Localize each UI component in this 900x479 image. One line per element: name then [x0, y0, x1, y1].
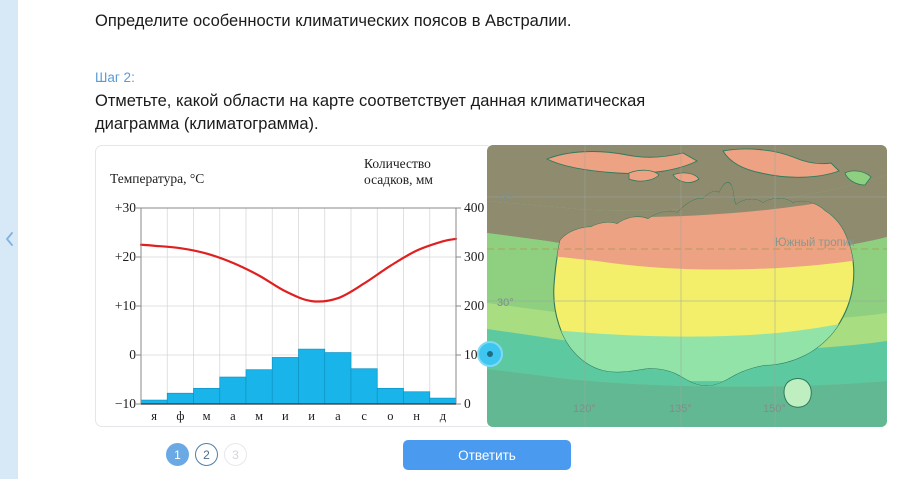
month-label-7: и	[299, 409, 325, 424]
step-dot-3[interactable]: 3	[224, 443, 247, 466]
month-label-4: а	[220, 409, 246, 424]
instruction-text: Отметьте, какой области на карте соответ…	[95, 90, 887, 137]
temp-tick-0: 0	[96, 348, 136, 362]
page-root: Определите особенности климатических поя…	[0, 0, 900, 479]
step-dot-1[interactable]: 1	[166, 443, 189, 466]
temp-tick-20: +20	[96, 250, 136, 264]
month-label-6: и	[272, 409, 298, 424]
instruction-line-1: Отметьте, какой области на карте соответ…	[95, 92, 645, 110]
answer-button[interactable]: Ответить	[403, 440, 571, 470]
month-label-12: д	[430, 409, 456, 424]
chevron-left-icon[interactable]	[2, 228, 16, 250]
month-label-10: о	[377, 409, 403, 424]
climatogram-svg	[96, 146, 494, 428]
temp-tick-30: +30	[96, 201, 136, 215]
month-label-1: я	[141, 409, 167, 424]
instruction-line-2: диаграмма (климатограмма).	[95, 113, 887, 136]
precipitation-bars	[141, 349, 456, 404]
month-label-2: ф	[167, 409, 193, 424]
month-label-11: н	[404, 409, 430, 424]
climatogram-card: Температура, °C Количество осадков, мм +…	[95, 145, 493, 427]
step-indicator: 1 2 3	[166, 443, 247, 466]
australia-climate-map[interactable]: 15° 30° 120° 135° 150° Южный тропик	[487, 145, 887, 427]
plot-area: +30+20+100−10 4003002001000 яфмамииасонд	[96, 146, 494, 428]
step-label: Шаг 2:	[95, 70, 135, 85]
page-title: Определите особенности климатических поя…	[95, 10, 885, 32]
month-label-3: м	[194, 409, 220, 424]
month-label-9: с	[351, 409, 377, 424]
map-svg[interactable]	[487, 145, 887, 427]
left-rail	[0, 0, 18, 479]
precipitation-marker[interactable]	[477, 341, 503, 367]
step-dot-2[interactable]: 2	[195, 443, 218, 466]
temp-tick--10: −10	[96, 397, 136, 411]
precipitation-marker-core	[487, 351, 493, 357]
month-label-8: а	[325, 409, 351, 424]
month-label-5: м	[246, 409, 272, 424]
temp-tick-10: +10	[96, 299, 136, 313]
